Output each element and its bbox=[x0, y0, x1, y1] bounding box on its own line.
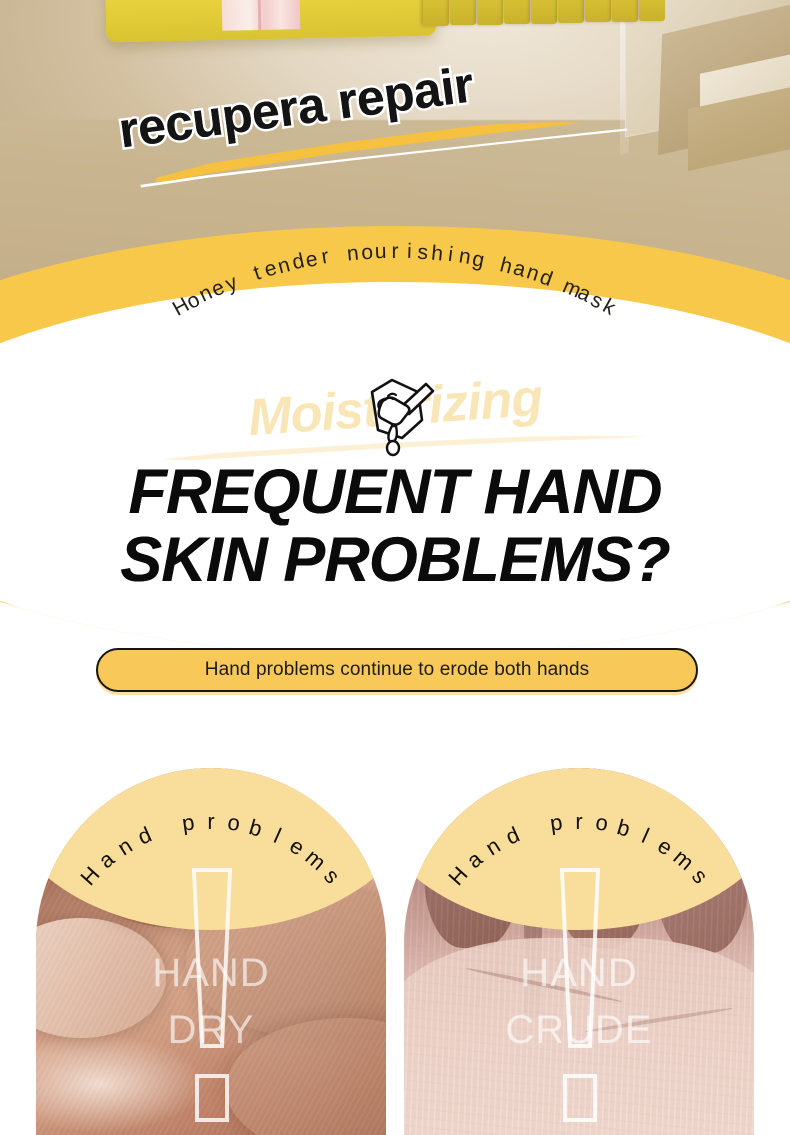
product-sachet-stack: CARE FOR HAND SKIN bbox=[105, 0, 575, 54]
card-caption-text-2: DRY bbox=[168, 1008, 255, 1052]
headline-line-2-wrap: SKIN PROBLEMS? SKIN PROBLEMS? SKIN PROBL… bbox=[0, 528, 790, 594]
curved-text-char: b bbox=[246, 814, 265, 842]
card-arc-label-curved: Hand problems bbox=[36, 786, 386, 866]
curved-text-char: n bbox=[113, 832, 137, 861]
curved-text-char: p bbox=[180, 810, 196, 837]
curved-text-char: o bbox=[594, 810, 610, 837]
curved-text-char: n bbox=[481, 832, 505, 861]
curved-text-char: o bbox=[226, 810, 242, 837]
product-sachet-leaf bbox=[423, 0, 449, 26]
product-sachet-leaf bbox=[612, 0, 638, 22]
section-headline: FREQUENT HAND FREQUENT HAND FREQUENT HAN… bbox=[0, 460, 790, 594]
card-caption-line-1: HAND bbox=[404, 946, 754, 1001]
headline-line-1-wrap: FREQUENT HAND FREQUENT HAND FREQUENT HAN… bbox=[0, 460, 790, 526]
product-sachet-leaf bbox=[477, 0, 503, 25]
curved-text-char: p bbox=[548, 810, 564, 837]
card-caption-text-1: HAND bbox=[520, 951, 637, 995]
product-sachet-leaf bbox=[558, 0, 584, 23]
card-caption-text-1: HAND bbox=[152, 951, 269, 995]
product-sachet-leaf bbox=[504, 0, 530, 24]
product-detail-page: CARE FOR HAND SKIN Honey tender nourishi… bbox=[0, 0, 790, 1135]
curved-text-char bbox=[528, 815, 541, 842]
subheadline-pill-banner: Hand problems continue to erode both han… bbox=[96, 648, 698, 692]
product-sachet-leaf bbox=[639, 0, 665, 21]
curved-text-char: r bbox=[207, 809, 214, 835]
card-caption-line-2: DRY bbox=[36, 1003, 386, 1058]
curved-text-char: d bbox=[134, 822, 156, 851]
product-sachet-leaf bbox=[531, 0, 557, 24]
card-caption-line-1: HAND bbox=[36, 946, 386, 1001]
problem-card-hand-dry: Hand problems HAND DRY bbox=[36, 768, 386, 1135]
problem-card-hand-crude: Hand problems HAND CRUDE bbox=[404, 768, 754, 1135]
curved-text-char bbox=[160, 815, 173, 842]
curved-text-char: d bbox=[502, 822, 524, 851]
card-arc-label-curved: Hand problems bbox=[404, 786, 754, 866]
headline-line-2: SKIN PROBLEMS? bbox=[0, 528, 790, 592]
problem-cards: Hand problems HAND DRY bbox=[0, 768, 790, 1135]
headline-line-1: FREQUENT HAND bbox=[0, 460, 790, 524]
product-sachet-fan bbox=[423, 0, 673, 34]
curved-text-char: r bbox=[575, 809, 582, 835]
card-caption-line-2: CRUDE bbox=[404, 1003, 754, 1058]
card-caption-text-2: CRUDE bbox=[505, 1008, 652, 1052]
product-sachet-leaf bbox=[585, 0, 611, 22]
curved-text-char: b bbox=[614, 814, 633, 842]
honey-dipper-icon bbox=[352, 376, 438, 460]
curved-text-char: l bbox=[270, 823, 285, 849]
pill-banner-text: Hand problems continue to erode both han… bbox=[205, 659, 589, 681]
product-sachet-leaf bbox=[450, 0, 476, 25]
curved-text-char: l bbox=[638, 823, 653, 849]
